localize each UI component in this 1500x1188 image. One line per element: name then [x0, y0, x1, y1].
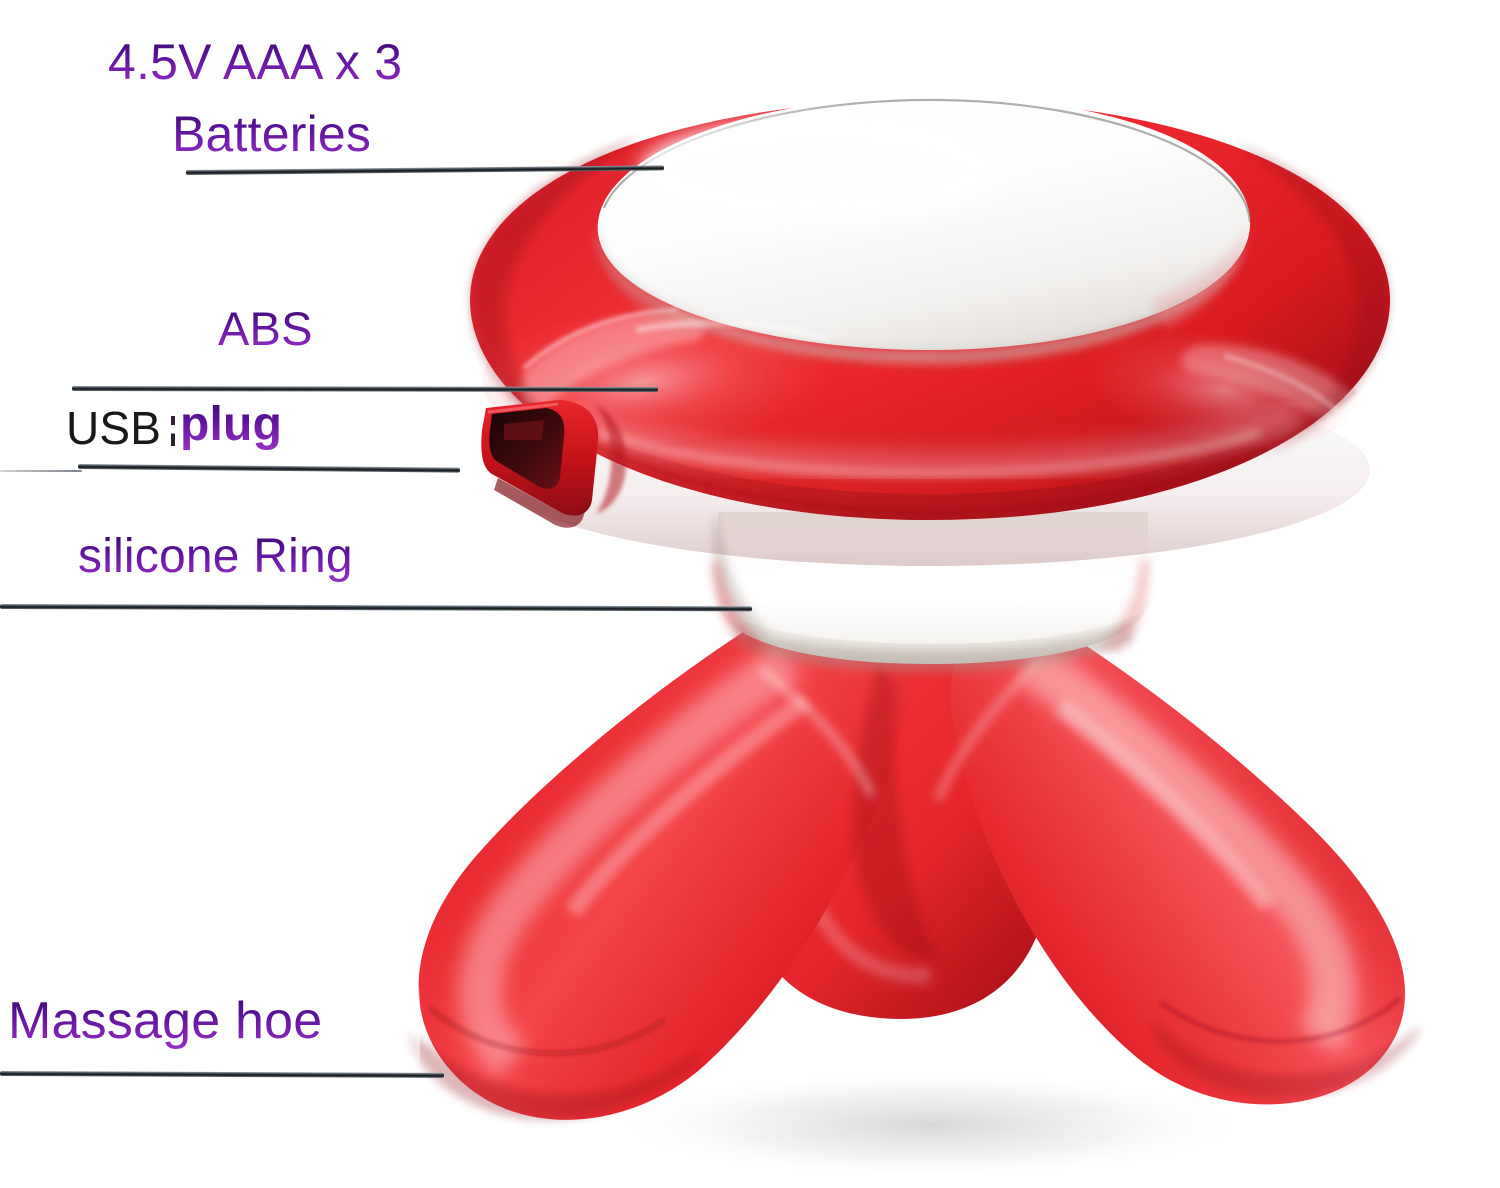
leader-line-silicone-ring [0, 604, 752, 611]
leader-line-usb-plug-tail [0, 470, 82, 472]
leader-line-massage-hoe [0, 1071, 444, 1078]
callout-label-usb-suffix: plug [180, 400, 282, 450]
callout-annotations: 4.5V AAA x 3 Batteries ABS USB plug sili… [0, 0, 1500, 1188]
callout-label-silicone-ring: silicone Ring [78, 532, 353, 582]
callout-label-abs: ABS [218, 304, 313, 353]
leader-line-abs [72, 386, 658, 392]
product-annotation-image: 4.5V AAA x 3 Batteries ABS USB plug sili… [0, 0, 1500, 1188]
callout-label-batteries-line2: Batteries [172, 108, 371, 161]
leader-line-usb-plug [78, 464, 460, 473]
callout-label-usb-prefix: USB [66, 404, 161, 452]
leader-line-batteries [186, 165, 664, 175]
usb-separator-glyph [171, 416, 175, 446]
callout-label-batteries-line1: 4.5V AAA x 3 [108, 36, 402, 89]
callout-label-massage-hoe: Massage hoe [8, 994, 322, 1049]
